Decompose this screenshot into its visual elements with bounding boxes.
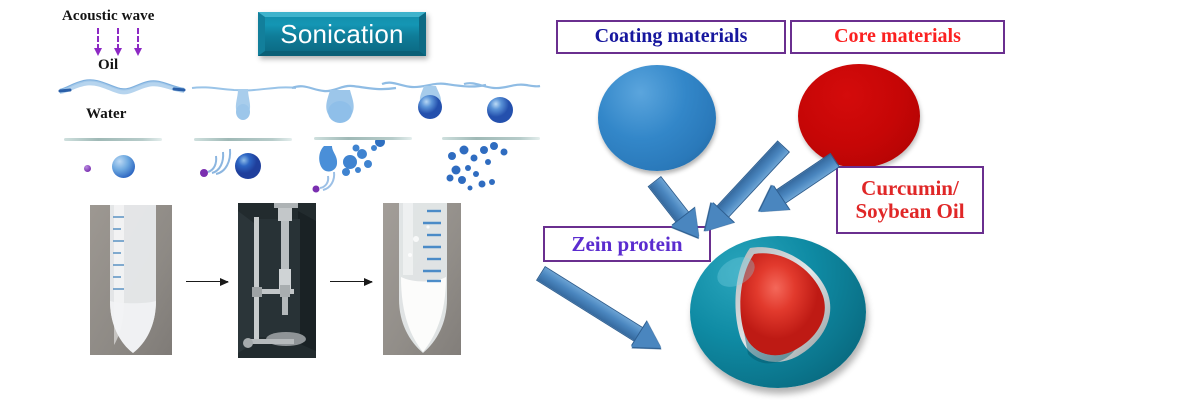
water-label: Water [86,106,126,123]
interface-stage-2-icon [190,78,300,124]
process-arrow-1 [186,281,228,282]
cavitation-stage-2 [190,146,310,190]
core-material-circle [798,64,920,168]
stage-separator-rule [64,138,162,141]
core-materials-label: Core materials [834,26,961,48]
sonication-banner: Sonication [258,12,426,56]
acoustic-wave-label: Acoustic wave [62,8,155,25]
interface-stage-5-icon [462,74,542,134]
coating-materials-box: Coating materials [556,20,786,54]
cavitation-stage-3 [306,140,436,198]
sonication-banner-label: Sonication [280,21,403,47]
cavitation-stage-1 [64,148,174,188]
coating-material-circle [598,65,716,171]
curcumin-soybean-oil-box: Curcumin/ Soybean Oil [836,166,984,234]
acoustic-wave-arrow-icon [117,28,119,58]
curcumin-soybean-oil-label: Curcumin/ Soybean Oil [844,177,976,222]
stage-separator-rule [194,138,292,141]
process-arrow-2 [330,281,372,282]
core-materials-box: Core materials [790,20,1005,54]
photo-coarse-mixture-tube [90,205,172,355]
emulsification-schematic-panel: Acoustic wave Oil Water Sonication [0,0,540,400]
interface-stage-1-icon [58,76,188,102]
zein-protein-label: Zein protein [571,233,682,256]
nanoparticle-cutaway [690,236,866,388]
cavitation-stage-4 [436,140,554,196]
photo-nanoemulsion-tube [383,203,461,355]
nanoparticle-structure-panel: Coating materials Core materials Curcumi… [540,0,1200,400]
photo-ultrasonic-probe-sonicator [238,203,316,358]
coating-materials-label: Coating materials [595,26,748,48]
oil-label: Oil [98,57,118,74]
core-shell-nanoparticle [690,236,866,388]
acoustic-wave-arrow-icon [97,28,99,58]
acoustic-wave-arrow-icon [137,28,139,58]
